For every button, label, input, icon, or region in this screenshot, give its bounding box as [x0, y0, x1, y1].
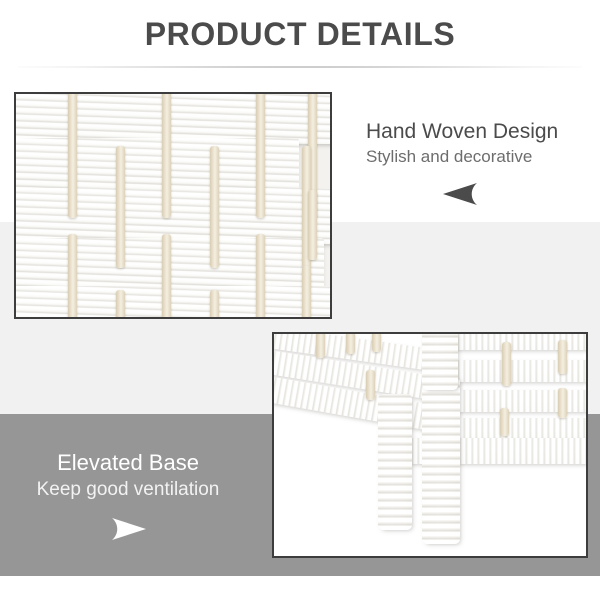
dowel-rod	[162, 234, 171, 319]
dowel-rod	[162, 92, 171, 218]
arrow-right-icon	[108, 516, 148, 542]
callout-elevated-base: Elevated Base Keep good ventilation	[8, 448, 248, 503]
product-details-page: PRODUCT DETAILS	[0, 0, 600, 600]
dowel-rod	[68, 92, 77, 218]
dowel-rod	[316, 332, 325, 358]
header: PRODUCT DETAILS	[0, 0, 600, 72]
dowel-rod	[68, 234, 77, 319]
weave-texture	[16, 94, 330, 317]
photo-hand-woven-design	[14, 92, 332, 319]
callout-subtext: Keep good ventilation	[8, 477, 248, 503]
dowel-rod	[210, 290, 219, 319]
dowel-rod	[302, 266, 311, 319]
photo-elevated-base	[272, 332, 588, 558]
rattan-leg	[422, 376, 460, 544]
dowel-rod	[116, 290, 125, 319]
callout-heading: Elevated Base	[8, 448, 248, 477]
rattan-rail	[384, 438, 588, 464]
dowel-rods	[16, 94, 330, 317]
callout-subtext: Stylish and decorative	[366, 145, 590, 169]
callout-heading: Hand Woven Design	[366, 118, 590, 145]
dowel-rod	[558, 340, 567, 374]
dowel-rod	[366, 370, 375, 400]
dowel-rod	[256, 234, 265, 319]
callout-hand-woven-design: Hand Woven Design Stylish and decorative	[366, 118, 590, 169]
page-title: PRODUCT DETAILS	[0, 14, 600, 54]
dowel-rod	[558, 388, 567, 418]
base-texture	[274, 334, 586, 556]
dowel-rod	[372, 332, 381, 352]
title-divider	[18, 66, 582, 68]
dowel-rod	[308, 190, 317, 260]
dowel-rod	[502, 342, 511, 386]
dowel-rod	[346, 332, 355, 354]
rattan-leg	[422, 332, 458, 390]
arrow-left-icon	[441, 182, 481, 206]
dowel-rod	[256, 92, 265, 218]
dowel-rod	[210, 146, 219, 268]
rattan-leg	[378, 394, 412, 530]
dowel-rod	[116, 146, 125, 268]
dowel-rod	[500, 408, 509, 436]
